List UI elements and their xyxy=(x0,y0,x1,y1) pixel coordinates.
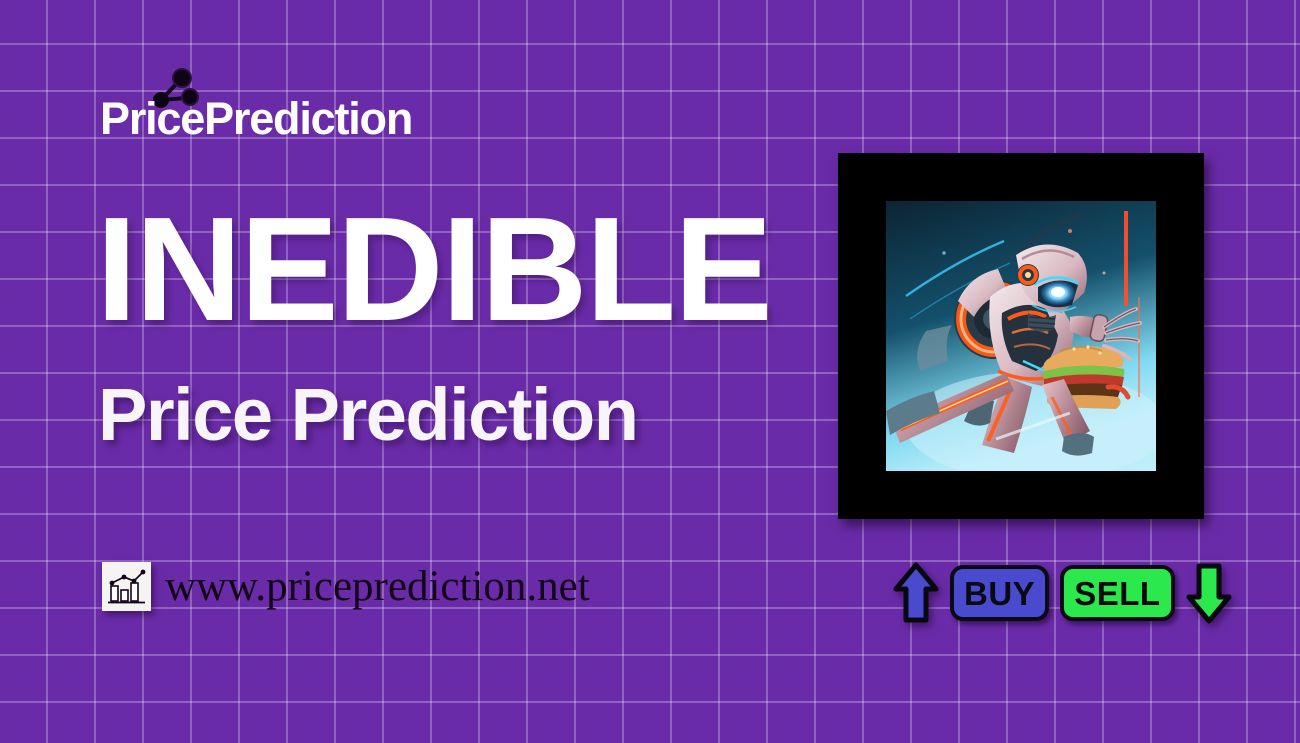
trade-controls: BUY SELL xyxy=(893,562,1232,624)
page-subtitle: Price Prediction xyxy=(98,378,637,452)
website-row: www.priceprediction.net xyxy=(102,562,590,611)
coin-art-image xyxy=(886,201,1156,471)
price-prediction-banner: PricePrediction INEDIBLE Price Predictio… xyxy=(0,0,1300,743)
brand-name: PricePrediction xyxy=(100,96,412,141)
coin-name-heading: INEDIBLE xyxy=(96,196,771,344)
sell-button-label: SELL xyxy=(1074,577,1160,610)
coin-art-frame xyxy=(838,153,1204,519)
bar-chart-icon xyxy=(102,562,151,611)
buy-button-label: BUY xyxy=(964,577,1035,610)
arrow-up-icon[interactable] xyxy=(893,562,939,624)
buy-button[interactable]: BUY xyxy=(950,565,1049,621)
arrow-down-icon[interactable] xyxy=(1186,562,1232,624)
sell-button[interactable]: SELL xyxy=(1060,565,1174,621)
website-url[interactable]: www.priceprediction.net xyxy=(165,565,590,608)
